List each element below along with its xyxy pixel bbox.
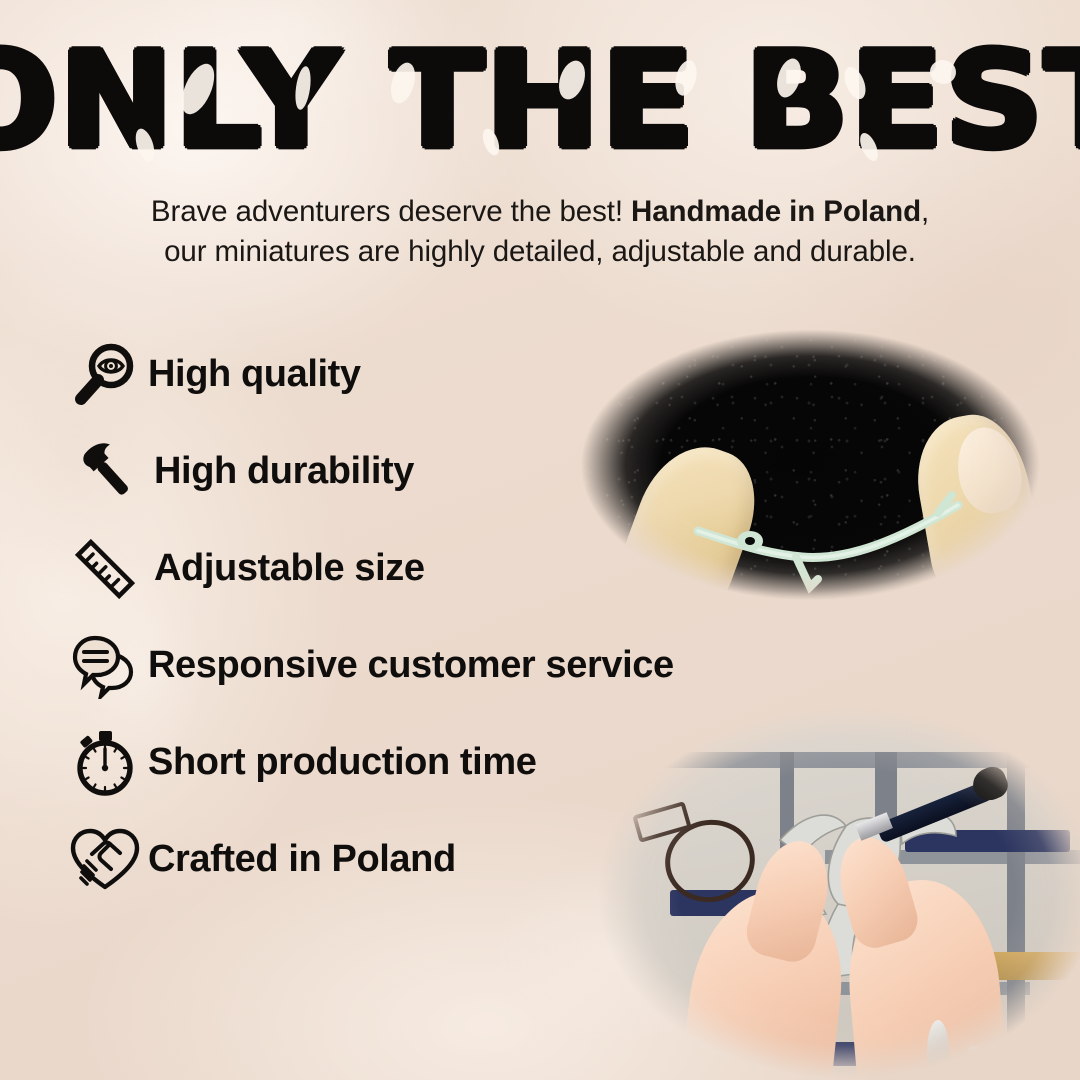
feature-list: High quality High durability (62, 326, 802, 908)
list-item-label: Adjustable size (154, 547, 425, 590)
list-item-label: High durability (154, 450, 414, 493)
small-miniature-piece (967, 1046, 983, 1068)
list-item-label: Crafted in Poland (148, 838, 456, 881)
subtitle-prefix: Brave adventurers deserve the best! (151, 195, 631, 228)
subtitle-suffix: , (921, 195, 929, 228)
stopwatch-icon (62, 723, 148, 803)
list-item: Short production time (62, 714, 802, 811)
list-item: Responsive customer service (62, 617, 802, 714)
ruler-icon (62, 529, 148, 609)
headline-container: ONLY THE BEST (0, 34, 1080, 152)
shelf-post-right (1007, 752, 1025, 1052)
list-item: High durability (62, 423, 802, 520)
subtitle-bold: Handmade in Poland (631, 195, 921, 228)
list-item-label: High quality (148, 353, 361, 396)
list-item-label: Responsive customer service (148, 644, 674, 687)
handshake-heart-icon (62, 820, 148, 900)
list-item: Adjustable size (62, 520, 802, 617)
hammer-icon (62, 432, 148, 512)
list-item: High quality (62, 326, 802, 423)
subtitle: Brave adventurers deserve the best! Hand… (0, 192, 1080, 272)
list-item-label: Short production time (148, 741, 536, 784)
subtitle-line-1: Brave adventurers deserve the best! Hand… (0, 192, 1080, 232)
page-title: ONLY THE BEST (0, 34, 1080, 166)
speech-bubbles-icon (62, 626, 148, 706)
promo-graphic: ONLY THE BEST Brave adventurers deserve … (0, 0, 1080, 1080)
subtitle-line-2: our miniatures are highly detailed, adju… (0, 232, 1080, 272)
list-item: Crafted in Poland (62, 811, 802, 908)
magnifier-eye-icon (62, 335, 148, 415)
